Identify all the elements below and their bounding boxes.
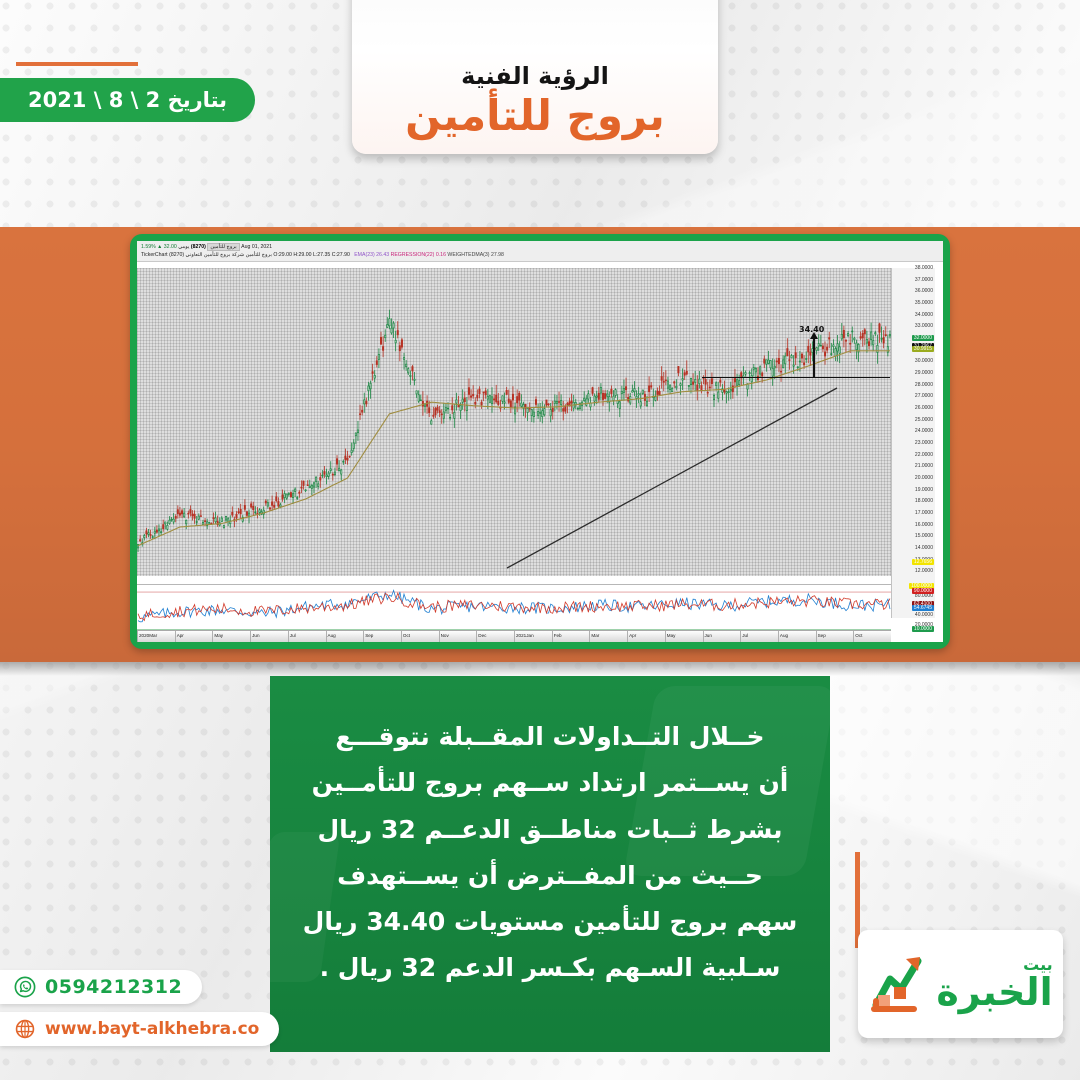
price-axis-tick: 26.0000 (915, 405, 933, 411)
price-axis-badge: 12.7656 (912, 559, 934, 565)
indicator-series (137, 585, 891, 632)
price-axis-tick: 25.0000 (915, 417, 933, 423)
date-axis-tick: Apr (177, 633, 184, 638)
date-axis-tick: 2020Mar (139, 633, 157, 638)
date-axis-separator (212, 631, 213, 642)
globe-icon (14, 1018, 36, 1040)
chart-regression-value: 0.16 (436, 252, 446, 258)
analysis-panel: خــلال التــداولات المقــبلة نتوقـــعأن … (270, 676, 830, 1052)
indicator-axis-badge: 54.6745 (912, 605, 934, 611)
date-axis-separator (363, 631, 364, 642)
price-axis-badge: 30.9915 (912, 346, 934, 352)
date-axis-tick: Feb (554, 633, 562, 638)
chart-change-percent: 1.59% (141, 244, 156, 250)
price-axis-tick: 15.0000 (915, 533, 933, 539)
price-axis-tick: 24.0000 (915, 428, 933, 434)
chart-last-price: 32.00 (164, 244, 177, 250)
date-axis-tick: Jul (290, 633, 296, 638)
date-axis-tick: Mar (591, 633, 599, 638)
analysis-line: بشرط ثــبات مناطــق الدعــم 32 ريال (296, 807, 804, 853)
date-axis[interactable]: 2020MarAprMayJunJulAugSepOctNovDec2021Ja… (137, 630, 891, 642)
price-axis-tick: 21.0000 (915, 463, 933, 469)
price-plot-gridlines (137, 268, 891, 576)
chart-header: بروج للتأمين (8270) يومي 32.00 ▲ 1.59% A… (137, 241, 943, 262)
website-url: www.bayt-alkhebra.co (45, 1019, 259, 1039)
date-axis-separator (740, 631, 741, 642)
date-axis-separator (816, 631, 817, 642)
price-axis-tick: 38.0000 (915, 265, 933, 271)
date-axis-separator (326, 631, 327, 642)
indicator-axis-tick: 40.0000 (915, 612, 933, 618)
brand-logo[interactable]: بيت الخبرة (858, 930, 1063, 1038)
date-axis-tick: Dec (478, 633, 486, 638)
price-axis-tick: 30.0000 (915, 358, 933, 364)
date-axis-tick: Oct (403, 633, 410, 638)
price-axis-badge: 32.0000 (912, 335, 934, 341)
price-axis-tick: 14.0000 (915, 545, 933, 551)
date-axis-tick: Sep (365, 633, 373, 638)
chart-regression-label: REGRESSION(22) (391, 252, 435, 258)
date-axis-separator (627, 631, 628, 642)
price-axis-tick: 12.0000 (915, 568, 933, 574)
chart-source: TickerChart (141, 252, 168, 258)
indicator-axis-badge: 90.0000 (912, 588, 934, 594)
chart-wma-value: 27.98 (491, 252, 504, 258)
date-axis-tick: Jun (705, 633, 712, 638)
header: بتاريخ 2 \ 8 \ 2021 الرؤية الفنية بروج ل… (0, 0, 1080, 227)
chart-company-name-ar: بروج للتأمين شركة بروج للتأمين التعاوني (186, 252, 272, 258)
chart-close: C:27.90 (332, 252, 350, 258)
contact-website[interactable]: www.bayt-alkhebra.co (0, 1012, 279, 1046)
date-axis-tick: Oct (855, 633, 862, 638)
date-axis-separator (703, 631, 704, 642)
chart-inner: بروج للتأمين (8270) يومي 32.00 ▲ 1.59% A… (137, 241, 943, 642)
date-axis-tick: Aug (328, 633, 336, 638)
analysis-text: خــلال التــداولات المقــبلة نتوقـــعأن … (270, 714, 830, 992)
chart-symbol-code: (8270) (191, 244, 206, 250)
analysis-line: سهم بروج للتأمين مستويات 34.40 ريال (296, 899, 804, 945)
date-axis-separator (250, 631, 251, 642)
chart-timeframe: يومي (178, 244, 189, 250)
date-axis-separator (439, 631, 440, 642)
price-axis-tick: 37.0000 (915, 277, 933, 283)
date-axis-tick: May (667, 633, 676, 638)
price-plot[interactable]: 32 34.40 (137, 268, 891, 576)
indicator-plot[interactable] (137, 584, 891, 632)
date-axis-separator (288, 631, 289, 642)
date-rule (16, 62, 138, 66)
indicator-axis-badge: 10.0000 (912, 626, 934, 632)
indicator-axis-tick: 80.0000 (915, 593, 933, 599)
target-label: 34.40 (799, 325, 824, 334)
page-title: بروج للتأمين (405, 94, 665, 138)
contact-phone[interactable]: 0594212312 (0, 970, 202, 1004)
date-axis-tick: 2021Jan (516, 633, 534, 638)
growth-arrow-icon (868, 949, 930, 1019)
date-axis-separator (401, 631, 402, 642)
support-line-annotation (702, 377, 890, 378)
price-axis-tick: 34.0000 (915, 312, 933, 318)
logo-wordmark: بيت الخبرة (936, 957, 1052, 1011)
chart-ema-value: 26.43 (376, 252, 389, 258)
chart-date: Aug 01, 2021 (241, 244, 272, 250)
title-subtitle: الرؤية الفنية (461, 62, 609, 90)
price-axis-tick: 19.0000 (915, 487, 933, 493)
date-axis-separator (514, 631, 515, 642)
analysis-line: خــلال التــداولات المقــبلة نتوقـــع (296, 714, 804, 760)
price-axis-tick: 36.0000 (915, 288, 933, 294)
price-axis[interactable]: 38.000037.000036.000035.000034.000033.00… (891, 268, 935, 618)
price-axis-tick: 23.0000 (915, 440, 933, 446)
analysis-line: أن يســتمر ارتداد ســهم بروج للتأمــين (296, 760, 804, 806)
chart-card: بروج للتأمين (8270) يومي 32.00 ▲ 1.59% A… (130, 234, 950, 649)
date-axis-tick: Apr (629, 633, 636, 638)
chart-up-arrow-icon: ▲ (157, 244, 162, 250)
price-axis-tick: 17.0000 (915, 510, 933, 516)
price-axis-tick: 29.0000 (915, 370, 933, 376)
chart-high: H:29.00 (293, 252, 311, 258)
date-axis-tick: Jun (252, 633, 259, 638)
date-axis-tick: Jul (742, 633, 748, 638)
title-card: الرؤية الفنية بروج للتأمين (352, 0, 718, 154)
date-badge: بتاريخ 2 \ 8 \ 2021 (0, 78, 255, 122)
date-axis-tick: May (214, 633, 223, 638)
date-axis-tick: Aug (780, 633, 788, 638)
chart-symbol-name-ar: بروج للتأمين (207, 243, 239, 251)
date-axis-separator (175, 631, 176, 642)
date-axis-tick: Nov (441, 633, 449, 638)
analysis-line: حــيث من المفــترض أن يســتهدف (296, 853, 804, 899)
date-axis-separator (853, 631, 854, 642)
date-axis-separator (552, 631, 553, 642)
logo-word-main: الخبرة (936, 973, 1052, 1011)
price-axis-tick: 35.0000 (915, 300, 933, 306)
phone-number: 0594212312 (45, 976, 182, 998)
price-axis-tick: 28.0000 (915, 382, 933, 388)
whatsapp-icon (14, 976, 36, 998)
analysis-line: سـلبية السـهم بكـسر الدعم 32 ريال . (296, 945, 804, 991)
date-axis-separator (778, 631, 779, 642)
date-axis-tick: Sep (818, 633, 826, 638)
price-axis-tick: 16.0000 (915, 522, 933, 528)
target-arrow-icon (813, 338, 815, 378)
date-axis-separator (137, 631, 138, 642)
date-axis-separator (476, 631, 477, 642)
chart-ema-label: EMA(23) (354, 252, 374, 258)
price-axis-tick: 22.0000 (915, 452, 933, 458)
price-axis-tick: 33.0000 (915, 323, 933, 329)
chart-open: O:29.00 (273, 252, 291, 258)
price-axis-tick: 20.0000 (915, 475, 933, 481)
price-axis-tick: 27.0000 (915, 393, 933, 399)
price-axis-tick: 18.0000 (915, 498, 933, 504)
date-axis-separator (665, 631, 666, 642)
chart-ohlc-symbol: (8270) (169, 252, 184, 258)
chart-band: بروج للتأمين (8270) يومي 32.00 ▲ 1.59% A… (0, 227, 1080, 662)
date-axis-separator (589, 631, 590, 642)
chart-low: L:27.35 (313, 252, 330, 258)
chart-wma-label: WEIGHTEDMA(3) (447, 252, 489, 258)
